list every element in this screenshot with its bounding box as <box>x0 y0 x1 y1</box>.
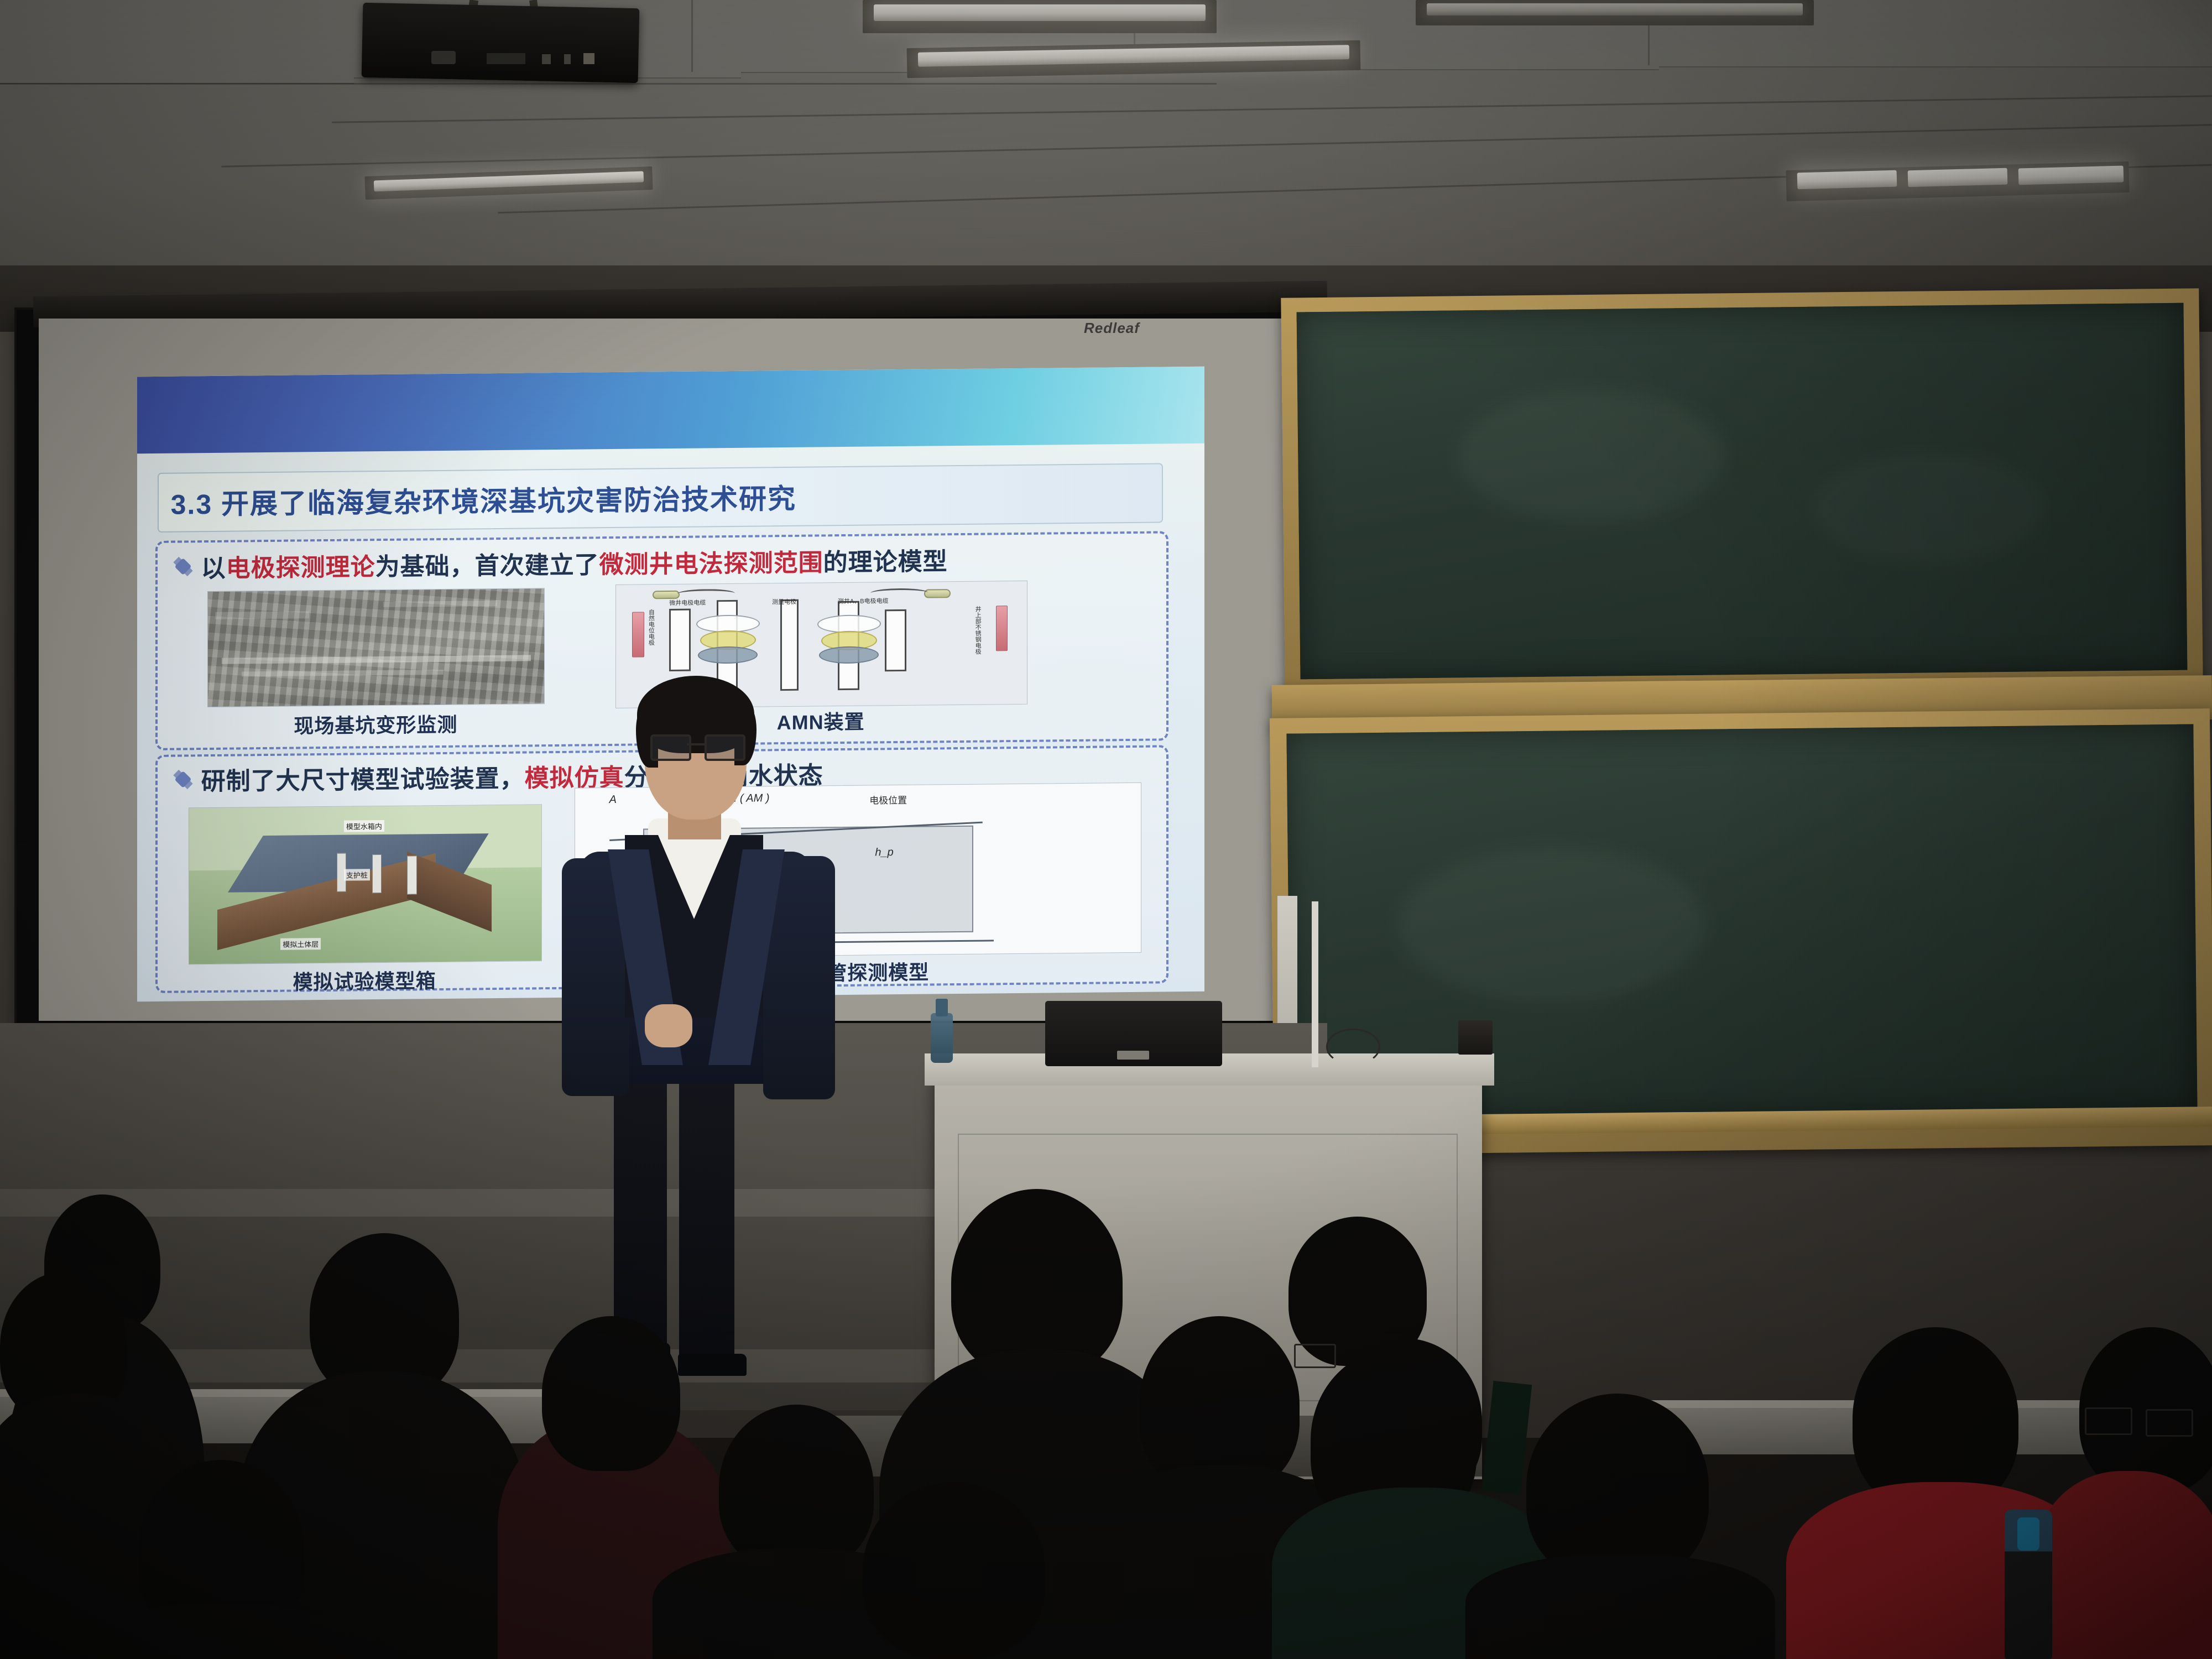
model-box-canvas: 模型水箱内 支护桩 模拟土体层 <box>189 805 541 964</box>
projector-vent <box>542 54 551 64</box>
model-label-lower: 模拟土体层 <box>280 938 321 950</box>
amn-label-right: 井上部不锈钢电极 <box>973 606 982 675</box>
screen-brand-label: Redleaf <box>1084 320 1140 337</box>
amn-tube <box>885 609 906 672</box>
ceiling-seam <box>691 0 693 72</box>
chalk-smudge <box>1813 451 2044 564</box>
amn-cable <box>677 589 735 598</box>
fluorescent-lamp <box>1908 168 2008 187</box>
projector <box>362 3 640 83</box>
fluorescent-lamp <box>2018 166 2124 185</box>
laptop-logo <box>1117 1051 1149 1060</box>
figure-caption-3: 模拟试验模型箱 <box>189 964 541 996</box>
slide-section-title: 3.3 开展了临海复杂环境深基坑灾害防治技术研究 <box>159 477 796 523</box>
amn-label-top-right: 测井A、B电极电缆 <box>838 596 889 606</box>
chalk-smudge <box>1396 846 1706 1004</box>
photo-detail <box>383 601 498 607</box>
projector-lens <box>431 51 456 64</box>
fluorescent-lamp <box>874 4 1206 21</box>
bottle-cap <box>2017 1517 2039 1551</box>
model-label-upper: 模型水箱内 <box>344 820 384 832</box>
projector-vent <box>487 53 525 64</box>
cable <box>1326 1029 1380 1065</box>
amn-connector-plug <box>924 589 951 598</box>
photo-detail <box>215 611 309 619</box>
projector-vent <box>583 53 594 64</box>
water-bottle-neck <box>936 999 948 1016</box>
audience-head <box>542 1316 680 1471</box>
glasses-lens-left <box>650 734 691 761</box>
amn-electrode-red-right <box>996 606 1008 651</box>
glasses-icon <box>1294 1344 1336 1368</box>
fluorescent-lamp <box>1427 3 1803 15</box>
chalk-smudge <box>1457 388 1725 523</box>
slide-section-title-box: 3.3 开展了临海复杂环境深基坑灾害防治技术研究 <box>158 463 1163 532</box>
presenter-shoe <box>678 1354 747 1376</box>
glasses-bridge <box>687 743 705 745</box>
audience-body-red <box>2035 1471 2212 1659</box>
figure-model-box: 模型水箱内 支护桩 模拟土体层 <box>189 804 542 965</box>
microphone-stand <box>1312 901 1318 1067</box>
glasses-lens-right <box>705 734 745 761</box>
water-bottle[interactable] <box>931 1013 953 1063</box>
slide-bullet-1: 以电极探测理论为基础，首次建立了微测井电法探测范围的理论模型 <box>174 541 948 584</box>
fluorescent-lamp <box>1797 170 1897 190</box>
audience-head <box>1526 1394 1709 1582</box>
ceiling-seam <box>0 83 1217 85</box>
presenter <box>542 653 885 1427</box>
audience-head <box>719 1405 874 1571</box>
diamond-bullet-icon <box>174 770 192 789</box>
lecture-hall-scene: Redleaf 二、技术创新 3.3 开展了临海复杂环境深基坑灾害防治技术研究 … <box>0 0 2212 1659</box>
diamond-bullet-icon <box>174 557 192 576</box>
presenter-hand <box>645 1004 692 1047</box>
audience-body <box>1465 1554 1775 1659</box>
support-pile <box>407 855 416 894</box>
support-pile <box>372 854 382 893</box>
figure-caption-1: 现场基坑变形监测 <box>207 708 544 740</box>
model-label-mid: 支护桩 <box>344 869 370 880</box>
amn-label-top-left: 微井电极电缆 <box>669 598 706 607</box>
cup[interactable] <box>1458 1020 1493 1055</box>
figure-aerial-photo <box>207 588 545 707</box>
aerial-photo-image <box>208 588 544 707</box>
audience-head <box>951 1189 1123 1377</box>
blackboard-upper <box>1297 303 2188 680</box>
glasses-icon <box>2085 1407 2132 1435</box>
ceiling-tile <box>0 0 354 84</box>
amn-electrode-red-left <box>632 612 644 657</box>
audience-head <box>863 1482 1045 1659</box>
slide-bullet-1-text: 以电极探测理论为基础，首次建立了微测井电法探测范围的理论模型 <box>201 541 948 584</box>
amn-label-top-mid: 测量电极 <box>772 597 796 606</box>
projector-vent <box>564 54 571 64</box>
slide-header-bar <box>137 367 1204 454</box>
glasses-icon <box>2146 1409 2193 1437</box>
